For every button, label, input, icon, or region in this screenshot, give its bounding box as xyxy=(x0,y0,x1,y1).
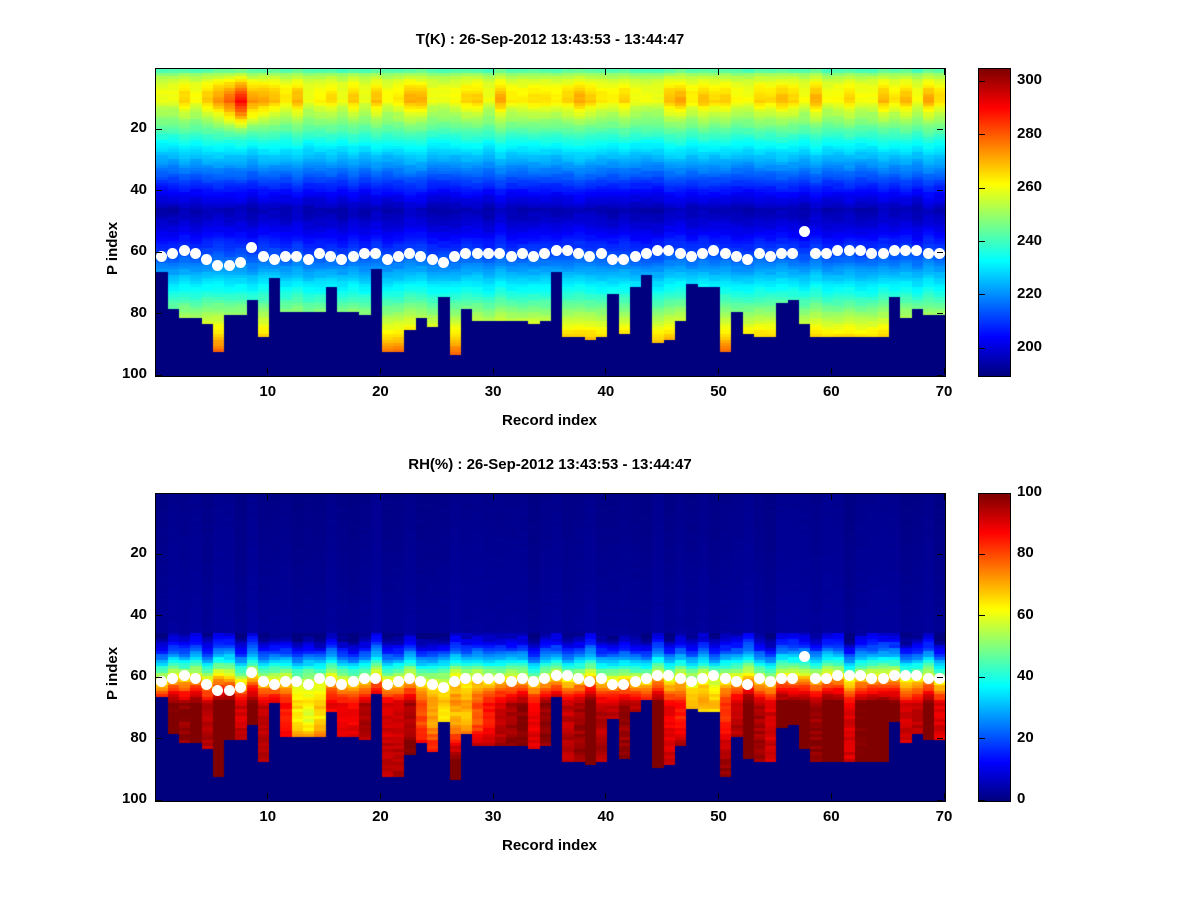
x-axis-tick xyxy=(267,494,268,500)
y-axis-tick-label: 20 xyxy=(101,544,147,561)
humidity-panel: RH(%) : 26-Sep-2012 13:43:53 - 13:44:47 … xyxy=(0,0,1200,900)
x-axis-tick xyxy=(380,793,381,799)
colorbar-tick-label: 0 xyxy=(1017,790,1025,807)
x-axis-tick xyxy=(605,494,606,500)
x-axis-tick-label: 30 xyxy=(463,808,523,825)
colorbar-tick-label: 100 xyxy=(1017,483,1042,500)
colorbar-tick-label: 40 xyxy=(1017,667,1034,684)
x-axis-tick-label: 50 xyxy=(689,808,749,825)
humidity-colorbar-gradient xyxy=(979,494,1010,801)
x-axis-tick-label: 40 xyxy=(576,808,636,825)
x-axis-tick xyxy=(944,793,945,799)
y-axis-tick-label: 80 xyxy=(101,729,147,746)
y-axis-tick xyxy=(937,800,943,801)
humidity-yaxis-label: P index xyxy=(104,647,121,700)
x-axis-tick xyxy=(718,494,719,500)
x-axis-tick xyxy=(380,494,381,500)
y-axis-tick-label: 40 xyxy=(101,606,147,623)
y-axis-tick xyxy=(937,615,943,616)
y-axis-tick xyxy=(156,554,162,555)
colorbar-tick xyxy=(979,800,985,801)
colorbar-tick xyxy=(979,615,985,616)
x-axis-tick-label: 20 xyxy=(350,808,410,825)
humidity-plot-title: RH(%) : 26-Sep-2012 13:43:53 - 13:44:47 xyxy=(0,456,1100,473)
humidity-heatmap-axes[interactable] xyxy=(155,493,946,802)
matlab-figure-window: T(K) : 26-Sep-2012 13:43:53 - 13:44:47 2… xyxy=(0,0,1200,900)
x-axis-tick xyxy=(831,793,832,799)
colorbar-tick xyxy=(979,554,985,555)
colorbar-tick xyxy=(979,493,985,494)
y-axis-tick xyxy=(156,615,162,616)
colorbar-tick xyxy=(979,738,985,739)
humidity-heatmap-canvas xyxy=(156,494,945,801)
x-axis-tick xyxy=(493,793,494,799)
y-axis-tick xyxy=(156,677,162,678)
y-axis-tick xyxy=(937,677,943,678)
y-axis-tick xyxy=(937,554,943,555)
colorbar-tick-label: 60 xyxy=(1017,606,1034,623)
x-axis-tick xyxy=(605,793,606,799)
x-axis-tick xyxy=(718,793,719,799)
humidity-xaxis-label: Record index xyxy=(155,837,944,854)
x-axis-tick xyxy=(944,494,945,500)
y-axis-tick xyxy=(937,738,943,739)
x-axis-tick-label: 70 xyxy=(914,808,974,825)
y-axis-tick xyxy=(156,738,162,739)
humidity-colorbar[interactable] xyxy=(978,493,1011,802)
y-axis-tick-label: 100 xyxy=(101,790,147,807)
colorbar-tick-label: 80 xyxy=(1017,544,1034,561)
x-axis-tick xyxy=(493,494,494,500)
x-axis-tick xyxy=(267,793,268,799)
x-axis-tick-label: 60 xyxy=(801,808,861,825)
colorbar-tick xyxy=(979,677,985,678)
colorbar-tick-label: 20 xyxy=(1017,729,1034,746)
y-axis-tick xyxy=(156,800,162,801)
x-axis-tick-label: 10 xyxy=(238,808,298,825)
x-axis-tick xyxy=(831,494,832,500)
